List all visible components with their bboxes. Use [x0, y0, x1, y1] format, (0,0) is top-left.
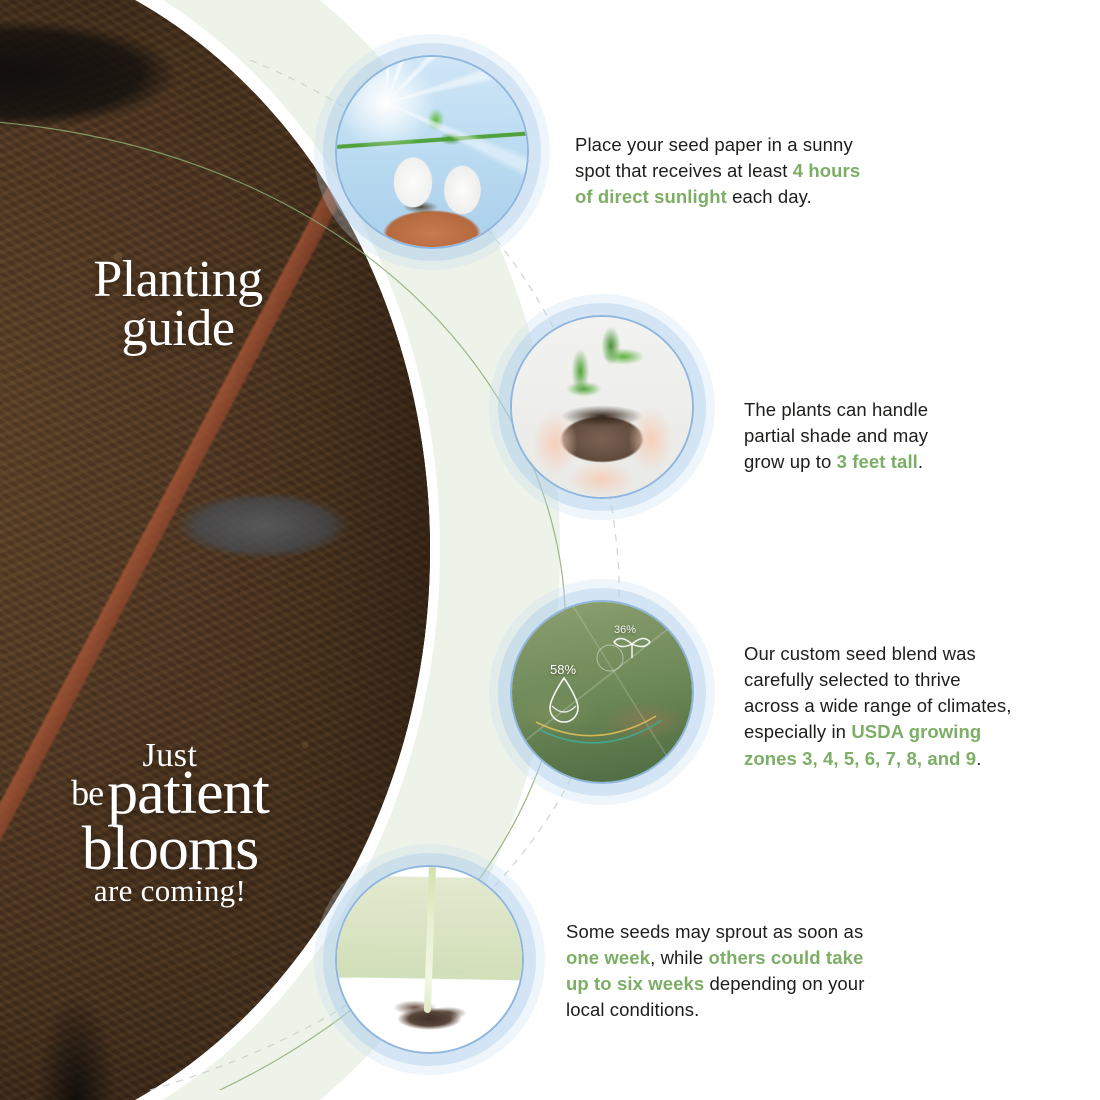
step-image-zones: 58% 36%: [510, 600, 694, 784]
seed-paper-pot-photo: [337, 57, 527, 247]
step-image-shade: [510, 315, 694, 499]
planting-guide-infographic: Planting guide Just bepatient blooms are…: [0, 0, 1100, 1100]
connector-curves: [0, 0, 1100, 1100]
moisture-value: 58%: [550, 662, 576, 677]
hud-ring: [597, 645, 623, 671]
accent-text: one week: [566, 947, 650, 968]
body-text: each day.: [727, 186, 812, 207]
hands-holding-pot-photo: [512, 317, 692, 497]
step-text-zones: Our custom seed blend was carefully sele…: [744, 641, 1014, 772]
sprout-stalk: [423, 865, 435, 1013]
sprout-icon-leaf-left: [614, 638, 632, 646]
body-text: .: [918, 451, 923, 472]
water-drop-icon: [550, 678, 578, 722]
headline-be-patient: Just bepatient blooms are coming!: [30, 740, 310, 905]
sprout-in-soil-photo: [337, 867, 522, 1052]
body-text: .: [976, 748, 981, 769]
step-image-germination: [335, 865, 524, 1054]
sprout-icon-leaf-right: [632, 638, 650, 646]
hud-graphics: [512, 602, 692, 782]
headline-planting-guide: Planting guide: [48, 256, 308, 354]
body-text: Some seeds may sprout as soon as: [566, 921, 863, 942]
water-level-line: [552, 706, 576, 712]
accent-text: 3 feet tall: [837, 451, 918, 472]
headline-row-be-patient: bepatient: [30, 766, 310, 821]
step-image-sunlight: [335, 55, 529, 249]
headline-line-1: Planting: [48, 256, 308, 305]
step-text-germination: Some seeds may sprout as soon as one wee…: [566, 919, 871, 1024]
headline-row-blooms: blooms: [30, 821, 310, 878]
step-text-sunlight: Place your seed paper in a sunny spot th…: [575, 132, 875, 211]
body-text: , while: [650, 947, 708, 968]
headline-line-2: guide: [48, 305, 308, 354]
farmland-data-overlay: 58% 36%: [512, 602, 692, 782]
step-text-shade: The plants can handle partial shade and …: [744, 397, 959, 476]
headline-row-are-coming: are coming!: [30, 876, 310, 905]
growth-value: 36%: [614, 624, 636, 636]
headline-word-be: be: [71, 773, 103, 813]
